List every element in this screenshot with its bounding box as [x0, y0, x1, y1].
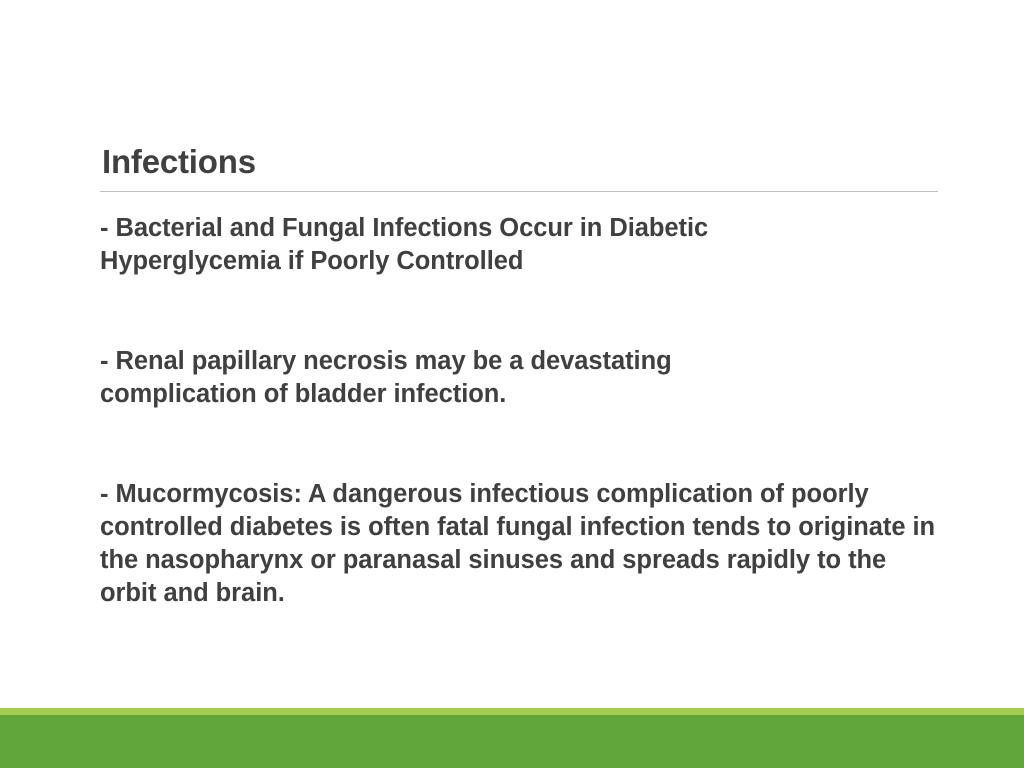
title-divider: [100, 191, 938, 192]
footer-dark-green-bar: [0, 715, 1024, 768]
footer-light-green-bar: [0, 708, 1024, 715]
bullet-paragraph-1: - Bacterial and Fungal Infections Occur …: [100, 212, 840, 278]
bullet-paragraph-2: - Renal papillary necrosis may be a deva…: [100, 345, 800, 411]
paragraph-spacer: [100, 411, 940, 478]
slide: Infections - Bacterial and Fungal Infect…: [0, 0, 1024, 768]
slide-content-area: Infections - Bacterial and Fungal Infect…: [100, 140, 940, 610]
page-title: Infections: [100, 140, 940, 188]
bullet-paragraph-3: - Mucormycosis: A dangerous infectious c…: [100, 478, 945, 610]
footer-accent-bars: [0, 708, 1024, 768]
paragraph-spacer: [100, 278, 940, 345]
body-text-block: - Bacterial and Fungal Infections Occur …: [100, 212, 940, 610]
